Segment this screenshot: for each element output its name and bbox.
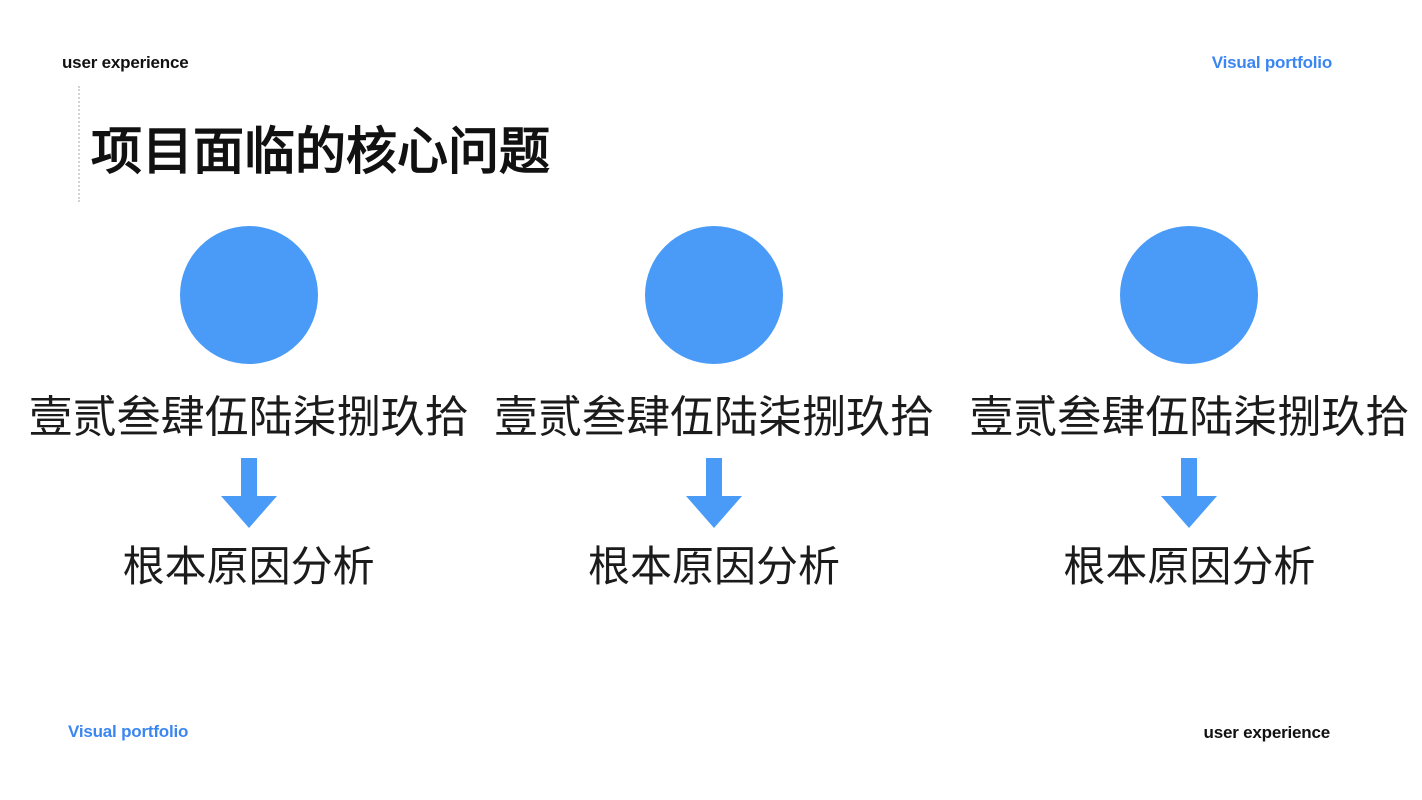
slide-canvas: user experience Visual portfolio 项目面临的核心… — [0, 0, 1422, 800]
column-3: 壹贰叁肆伍陆柒捌玖拾 根本原因分析 — [947, 220, 1422, 640]
column-2: 壹贰叁肆伍陆柒捌玖拾 根本原因分析 — [481, 220, 946, 640]
title-accent-rule — [78, 86, 80, 202]
column-3-label: 根本原因分析 — [1063, 543, 1315, 591]
column-1: 壹贰叁肆伍陆柒捌玖拾 根本原因分析 — [0, 220, 481, 640]
footer-brand-right: user experience — [1204, 723, 1330, 743]
header-eyebrow-left: user experience — [62, 53, 188, 73]
footer-brand-left: Visual portfolio — [68, 722, 188, 742]
column-2-label: 根本原因分析 — [588, 543, 840, 591]
arrow-down-icon — [211, 456, 287, 532]
columns-container: 壹贰叁肆伍陆柒捌玖拾 根本原因分析 壹贰叁肆伍陆柒捌玖拾 根本原因分析 壹贰叁肆… — [0, 220, 1422, 640]
column-1-heading: 壹贰叁肆伍陆柒捌玖拾 — [29, 393, 469, 443]
column-2-heading: 壹贰叁肆伍陆柒捌玖拾 — [494, 393, 934, 443]
filled-circle-icon — [1120, 226, 1258, 364]
arrow-down-icon — [1151, 456, 1227, 532]
column-1-label: 根本原因分析 — [123, 543, 375, 591]
header-eyebrow-right: Visual portfolio — [1212, 53, 1332, 73]
filled-circle-icon — [180, 226, 318, 364]
column-3-heading: 壹贰叁肆伍陆柒捌玖拾 — [969, 393, 1409, 443]
filled-circle-icon — [645, 226, 783, 364]
arrow-down-icon — [676, 456, 752, 532]
page-title: 项目面临的核心问题 — [91, 122, 550, 182]
